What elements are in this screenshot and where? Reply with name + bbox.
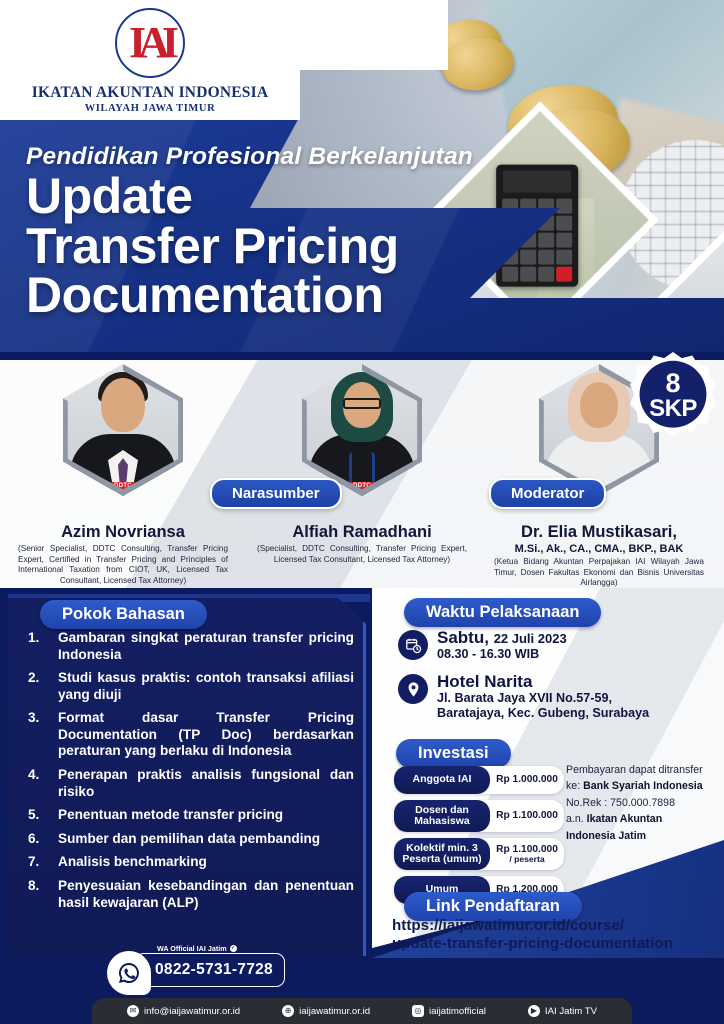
list-item-number: 3.	[28, 710, 54, 727]
schedule-date-rest: 22 Juli 2023	[494, 631, 567, 646]
footer-item-email[interactable]: ✉ info@iaijawatimur.or.id	[127, 1005, 240, 1017]
price-label: Kolektif min. 3 Peserta (umum)	[394, 838, 490, 870]
venue-address-line-1: Jl. Barata Jaya XVII No.57-59,	[437, 691, 649, 706]
list-item-number: 6.	[28, 831, 54, 848]
speaker-name: Azim Novriansa	[10, 524, 236, 542]
topics-heading-wrap: Pokok Bahasan	[40, 600, 207, 629]
transfer-prefix: ke:	[566, 780, 583, 792]
iai-monogram-icon: IAI	[129, 21, 171, 65]
list-item: 2.Studi kasus praktis: contoh transaksi …	[24, 670, 354, 703]
calendar-clock-icon	[398, 630, 428, 660]
speaker-card-1: DDTC Azim Novriansa (Senior Specialist, …	[10, 364, 236, 587]
transfer-line-1: Pembayaran dapat ditransfer	[566, 762, 718, 778]
transfer-instructions: Pembayaran dapat ditransfer ke: Bank Sya…	[566, 762, 718, 844]
price-label: Anggota IAI	[394, 766, 490, 794]
topics-list: 1.Gambaran singkat peraturan transfer pr…	[24, 630, 354, 918]
list-item-number: 2.	[28, 670, 54, 687]
price-value: Rp 1.100.000 / peserta	[490, 838, 564, 870]
footer-item-youtube[interactable]: ▶ IAI Jatim TV	[528, 1005, 597, 1017]
venue-name: Hotel Narita	[437, 672, 649, 691]
list-item-number: 8.	[28, 878, 54, 895]
speaker-description: (Specialist, DDTC Consulting, Transfer P…	[249, 544, 475, 566]
registration-url-line-1: https://iaijawatimur.or.id/course/	[392, 917, 722, 935]
price-value: Rp 1.100.000	[490, 800, 564, 832]
table-row: Anggota IAI Rp 1.000.000	[394, 766, 564, 794]
investment-heading-wrap: Investasi	[396, 739, 511, 768]
organization-logo: IAI IKATAN AKUNTAN INDONESIA WILAYAH JAW…	[0, 8, 300, 114]
list-item-number: 4.	[28, 767, 54, 784]
footer-youtube-text: IAI Jatim TV	[545, 1006, 597, 1017]
price-amount: Rp 1.000.000	[496, 774, 558, 785]
whatsapp-icon	[107, 951, 151, 995]
speaker-photo-frame: DDTC	[302, 364, 422, 496]
role-badge-moderator: Moderator	[489, 478, 606, 509]
page-title-line-1: Update	[26, 172, 496, 222]
schedule-date-text: Sabtu, 22 Juli 2023 08.30 - 16.30 WIB	[437, 628, 567, 662]
speaker-photo-frame: DDTC	[63, 364, 183, 496]
whatsapp-label: WA Official IAI Jatim ✓	[152, 944, 242, 953]
whatsapp-number: 0822-5731-7728	[155, 961, 273, 979]
speaker-degree: M.Si., Ak., CA., CMA., BKP., BAK	[486, 543, 712, 555]
price-table: Anggota IAI Rp 1.000.000 Dosen dan Mahas…	[394, 766, 564, 910]
price-value: Rp 1.000.000	[490, 766, 564, 794]
email-icon: ✉	[127, 1005, 139, 1017]
list-item-text: Penyesuaian kesebandingan dan penentuan …	[58, 878, 354, 910]
portrait-illustration: DDTC	[63, 364, 183, 496]
account-prefix: a.n.	[566, 813, 587, 825]
role-badge-narasumber: Narasumber	[210, 478, 342, 509]
registration-link[interactable]: https://iaijawatimur.or.id/course/ updat…	[392, 917, 722, 953]
registration-url-line-2: update-transfer-pricing-documentation	[392, 935, 722, 953]
list-item-number: 7.	[28, 854, 54, 871]
list-item-text: Penentuan metode transfer pricing	[58, 807, 283, 822]
skp-label: SKP	[649, 397, 697, 421]
bank-name: Bank Syariah Indonesia	[583, 780, 703, 792]
footer-website-text: iaijawatimur.or.id	[299, 1006, 370, 1017]
list-item: 7.Analisis benchmarking	[24, 854, 354, 871]
calculator-screen	[503, 171, 571, 193]
footer-item-website[interactable]: ⊕ iaijawatimur.or.id	[282, 1005, 370, 1017]
schedule-day: Sabtu,	[437, 628, 489, 647]
skp-number: 8	[665, 371, 680, 397]
price-label: Dosen dan Mahasiswa	[394, 800, 490, 832]
list-item-text: Sumber dan pemilihan data pembanding	[58, 831, 320, 846]
footer-email-text: info@iaijawatimur.or.id	[144, 1006, 240, 1017]
youtube-icon: ▶	[528, 1005, 540, 1017]
transfer-line-4: a.n. Ikatan Akuntan	[566, 811, 718, 827]
price-amount: Rp 1.100.000	[496, 810, 558, 821]
investment-heading: Investasi	[396, 739, 511, 768]
list-item: 8.Penyesuaian kesebandingan dan penentua…	[24, 878, 354, 911]
portrait-illustration: DDTC	[302, 364, 422, 496]
location-pin-icon	[398, 674, 428, 704]
speaker-description: (Senior Specialist, DDTC Consulting, Tra…	[10, 544, 236, 587]
page-title: Update Transfer Pricing Documentation	[26, 172, 496, 321]
account-holder: Ikatan Akuntan	[587, 813, 663, 825]
list-item-number: 5.	[28, 807, 54, 824]
speaker-photo: DDTC	[302, 364, 422, 496]
transfer-line-2: ke: Bank Syariah Indonesia	[566, 778, 718, 794]
transfer-line-5: Indonesia Jatim	[566, 828, 718, 844]
schedule-date: Sabtu, 22 Juli 2023	[437, 628, 567, 647]
schedule-venue-row: Hotel Narita Jl. Barata Jaya XVII No.57-…	[398, 672, 716, 721]
footer-instagram-text: iaijatimofficial	[429, 1006, 486, 1017]
list-item: 1.Gambaran singkat peraturan transfer pr…	[24, 630, 354, 663]
list-item-text: Penerapan praktis analisis fungsional da…	[58, 767, 354, 799]
list-item-text: Analisis benchmarking	[58, 854, 207, 869]
speaker-name: Alfiah Ramadhani	[249, 524, 475, 542]
whatsapp-contact[interactable]: WA Official IAI Jatim ✓ 0822-5731-7728	[107, 951, 287, 989]
logo-circle: IAI	[115, 8, 185, 78]
globe-icon: ⊕	[282, 1005, 294, 1017]
table-row: Kolektif min. 3 Peserta (umum) Rp 1.100.…	[394, 838, 564, 870]
venue-address-line-2: Baratajaya, Kec. Gubeng, Surabaya	[437, 706, 649, 721]
schedule-time: 08.30 - 16.30 WIB	[437, 647, 567, 662]
account-holder-cont: Indonesia Jatim	[566, 830, 646, 842]
page-title-line-3: Documentation	[26, 271, 496, 321]
transfer-account-number: No.Rek : 750.000.7898	[566, 795, 718, 811]
schedule-date-row: Sabtu, 22 Juli 2023 08.30 - 16.30 WIB	[398, 628, 716, 662]
list-item-text: Gambaran singkat peraturan transfer pric…	[58, 630, 354, 662]
footer-item-instagram[interactable]: ◎ iaijatimofficial	[412, 1005, 486, 1017]
list-item-number: 1.	[28, 630, 54, 647]
speaker-card-2: DDTC Alfiah Ramadhani (Specialist, DDTC …	[249, 364, 475, 565]
whatsapp-label-text: WA Official IAI Jatim	[157, 944, 227, 953]
table-row: Dosen dan Mahasiswa Rp 1.100.000	[394, 800, 564, 832]
list-item: 6.Sumber dan pemilihan data pembanding	[24, 831, 354, 848]
schedule-heading-wrap: Waktu Pelaksanaan	[404, 598, 601, 627]
organization-name: IKATAN AKUNTAN INDONESIA	[0, 84, 300, 102]
list-item: 3.Format dasar Transfer Pricing Document…	[24, 710, 354, 760]
organization-region: WILAYAH JAWA TIMUR	[0, 103, 300, 114]
speakers-section: DDTC Azim Novriansa (Senior Specialist, …	[0, 360, 724, 592]
schedule-heading: Waktu Pelaksanaan	[404, 598, 601, 627]
list-item-text: Format dasar Transfer Pricing Documentat…	[58, 710, 354, 758]
speaker-name: Dr. Elia Mustikasari,	[486, 524, 712, 542]
list-item: 5.Penentuan metode transfer pricing	[24, 807, 354, 824]
verified-check-icon: ✓	[230, 945, 237, 952]
list-item-text: Studi kasus praktis: contoh transaksi af…	[58, 670, 354, 702]
instagram-icon: ◎	[412, 1005, 424, 1017]
kicker-text: Pendidikan Profesional Berkelanjutan	[26, 143, 473, 171]
speaker-description: (Ketua Bidang Akuntan Perpajakan IAI Wil…	[486, 557, 712, 589]
skp-badge: 8 SKP	[629, 352, 717, 440]
glasses-icon	[343, 398, 381, 409]
price-unit: / peserta	[509, 855, 544, 864]
list-item: 4.Penerapan praktis analisis fungsional …	[24, 767, 354, 800]
topics-heading: Pokok Bahasan	[40, 600, 207, 629]
speaker-photo: DDTC	[63, 364, 183, 496]
page-title-line-2: Transfer Pricing	[26, 222, 496, 272]
schedule-block: Sabtu, 22 Juli 2023 08.30 - 16.30 WIB Ho…	[398, 628, 716, 731]
poster-root: IAI IKATAN AKUNTAN INDONESIA WILAYAH JAW…	[0, 0, 724, 1024]
schedule-venue-text: Hotel Narita Jl. Barata Jaya XVII No.57-…	[437, 672, 649, 721]
wedge-bottom-edge	[0, 352, 724, 360]
footer-contact-bar: ✉ info@iaijawatimur.or.id ⊕ iaijawatimur…	[92, 998, 632, 1024]
